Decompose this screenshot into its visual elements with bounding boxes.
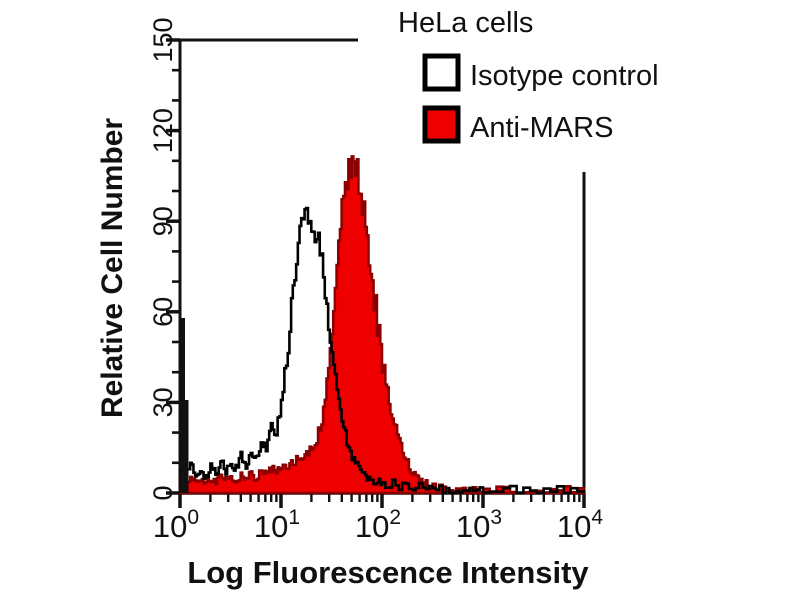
left-edge-spike	[183, 318, 184, 493]
y-tick-label: 0	[148, 485, 178, 500]
y-tick-label: 30	[148, 387, 178, 417]
y-tick-label: 120	[148, 108, 178, 153]
legend-swatch-isotype-control	[425, 56, 458, 89]
legend-swatch-anti-mars	[425, 108, 458, 141]
x-axis-title: Log Fluorescence Intensity	[187, 555, 589, 590]
legend-label-anti-mars: Anti-MARS	[470, 112, 613, 144]
x-tick-exponent: 1	[288, 506, 300, 529]
flow-cytometry-figure: HeLa cells Isotype control Anti-MARS 030…	[0, 0, 800, 600]
y-tick-label: 60	[148, 297, 178, 327]
legend-sample-label: HeLa cells	[398, 7, 533, 39]
y-tick-label: 90	[148, 206, 178, 236]
legend-label-isotype-control: Isotype control	[470, 60, 659, 92]
x-tick-exponent: 0	[187, 506, 199, 529]
y-axis-title: Relative Cell Number	[96, 118, 129, 418]
y-tick-label: 150	[148, 17, 178, 62]
x-tick-exponent: 3	[490, 506, 502, 529]
histogram-plot: HeLa cells Isotype control Anti-MARS 030…	[0, 0, 800, 600]
x-tick-exponent: 2	[389, 506, 401, 529]
x-tick-exponent: 4	[591, 506, 603, 529]
